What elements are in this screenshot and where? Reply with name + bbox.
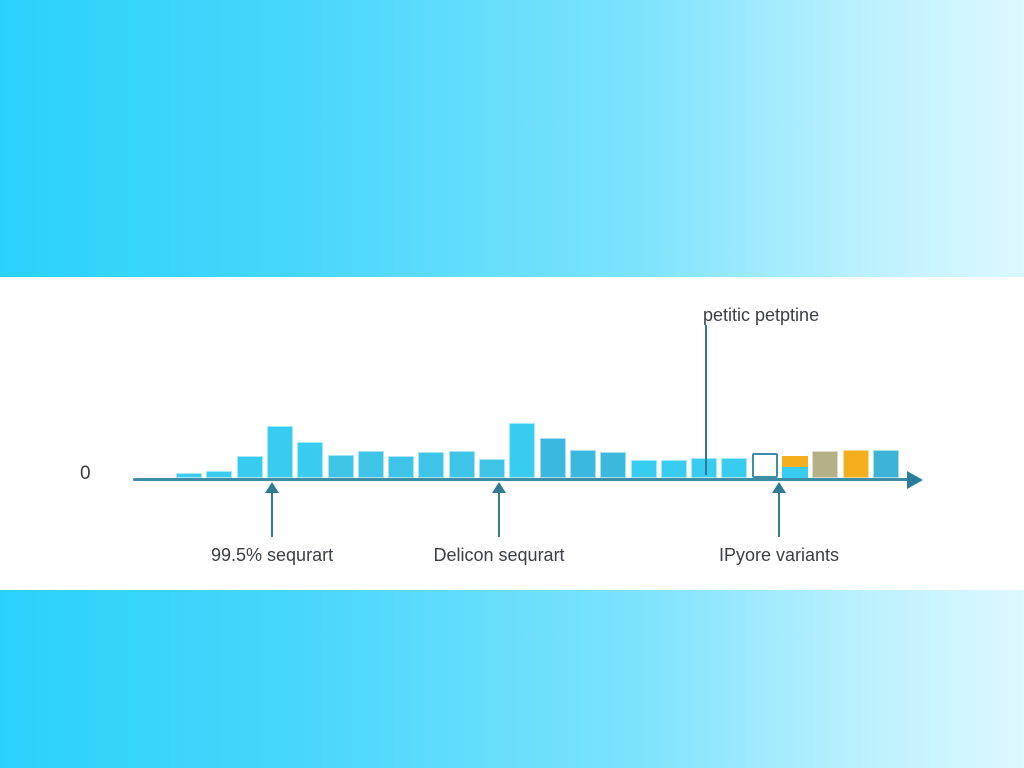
bar-b2 xyxy=(206,471,232,478)
leader-callout-label: petitic petptine xyxy=(703,305,819,326)
bar-b16 xyxy=(631,460,657,478)
bar-b24 xyxy=(873,450,899,478)
callout-label-2: IPyore variants xyxy=(719,545,839,566)
leader-line xyxy=(705,325,707,475)
bar-b17 xyxy=(661,460,687,478)
bar-series xyxy=(0,277,1024,590)
x-axis-line xyxy=(133,478,913,481)
bar-b12 xyxy=(509,423,535,478)
bar-b5 xyxy=(297,442,323,478)
callout-arrow-shaft-2 xyxy=(778,492,780,537)
bar-b4 xyxy=(267,426,293,478)
bar-b6 xyxy=(328,455,354,478)
bar-split-top xyxy=(782,456,808,467)
background-band-bottom xyxy=(0,590,1024,768)
bar-b13 xyxy=(540,438,566,478)
bar-b8 xyxy=(388,456,414,478)
chart-stage: 0 99.5% sequrartDelicon sequrartIPyore v… xyxy=(0,0,1024,768)
bar-b9 xyxy=(418,452,444,478)
bar-b14 xyxy=(570,450,596,478)
x-axis-arrow-icon xyxy=(907,471,923,489)
bar-b23 xyxy=(843,450,869,478)
plot-area: 0 99.5% sequrartDelicon sequrartIPyore v… xyxy=(0,277,1024,590)
bar-b20 xyxy=(752,453,778,478)
callout-label-1: Delicon sequrart xyxy=(434,545,565,566)
callout-label-0: 99.5% sequrart xyxy=(211,545,333,566)
axis-zero-label: 0 xyxy=(80,463,91,485)
bar-split-bottom xyxy=(782,467,808,478)
callout-arrow-shaft-1 xyxy=(498,492,500,537)
bar-b10 xyxy=(449,451,475,478)
bar-b3 xyxy=(237,456,263,478)
bar-b11 xyxy=(479,459,505,478)
bar-b19 xyxy=(721,458,747,478)
bar-b22 xyxy=(812,451,838,478)
bar-b21 xyxy=(782,456,808,478)
background-band-top xyxy=(0,0,1024,277)
bar-b15 xyxy=(600,452,626,478)
callout-arrow-shaft-0 xyxy=(271,492,273,537)
bar-b7 xyxy=(358,451,384,478)
